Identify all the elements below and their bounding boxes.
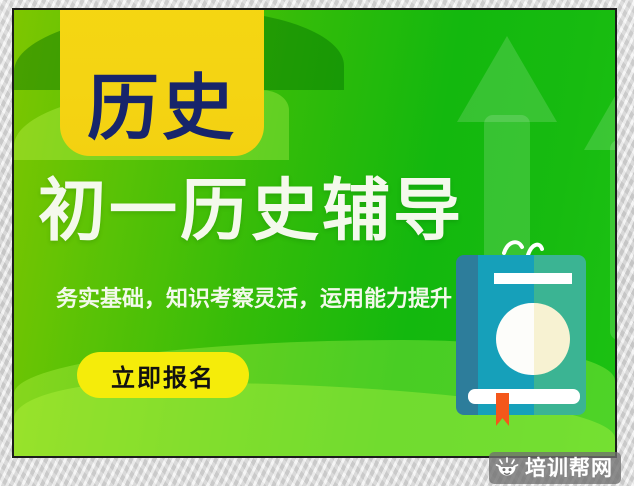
subject-badge: 历史 [60,10,264,156]
watermark-text: 培训帮网 [525,458,613,479]
up-arrow-icon-side-shaft [610,140,615,340]
watermark-badge: 培训帮网 [489,452,621,484]
subject-badge-label: 历史 [87,72,237,144]
banner-frame: 历史 初一历史辅导 务实基础，知识考察灵活，运用能力提升 立即报名 + [12,8,617,458]
textbook-icon: + [456,255,590,420]
book-pages-edge [468,389,580,404]
enroll-now-button-label: 立即报名 [111,358,215,393]
swoosh-icon [502,237,544,257]
up-arrow-icon-main-head [457,36,557,122]
page-subtitle: 务实基础，知识考察灵活，运用能力提升 [56,288,452,312]
up-arrow-icon-side-head [584,70,615,150]
book-title-bar [494,273,572,284]
page-title: 初一历史辅导 [38,178,464,246]
enroll-now-button[interactable]: 立即报名 [77,352,249,398]
smiley-sun-icon [495,457,519,479]
banner-canvas: 历史 初一历史辅导 务实基础，知识考察灵活，运用能力提升 立即报名 + [14,10,615,456]
